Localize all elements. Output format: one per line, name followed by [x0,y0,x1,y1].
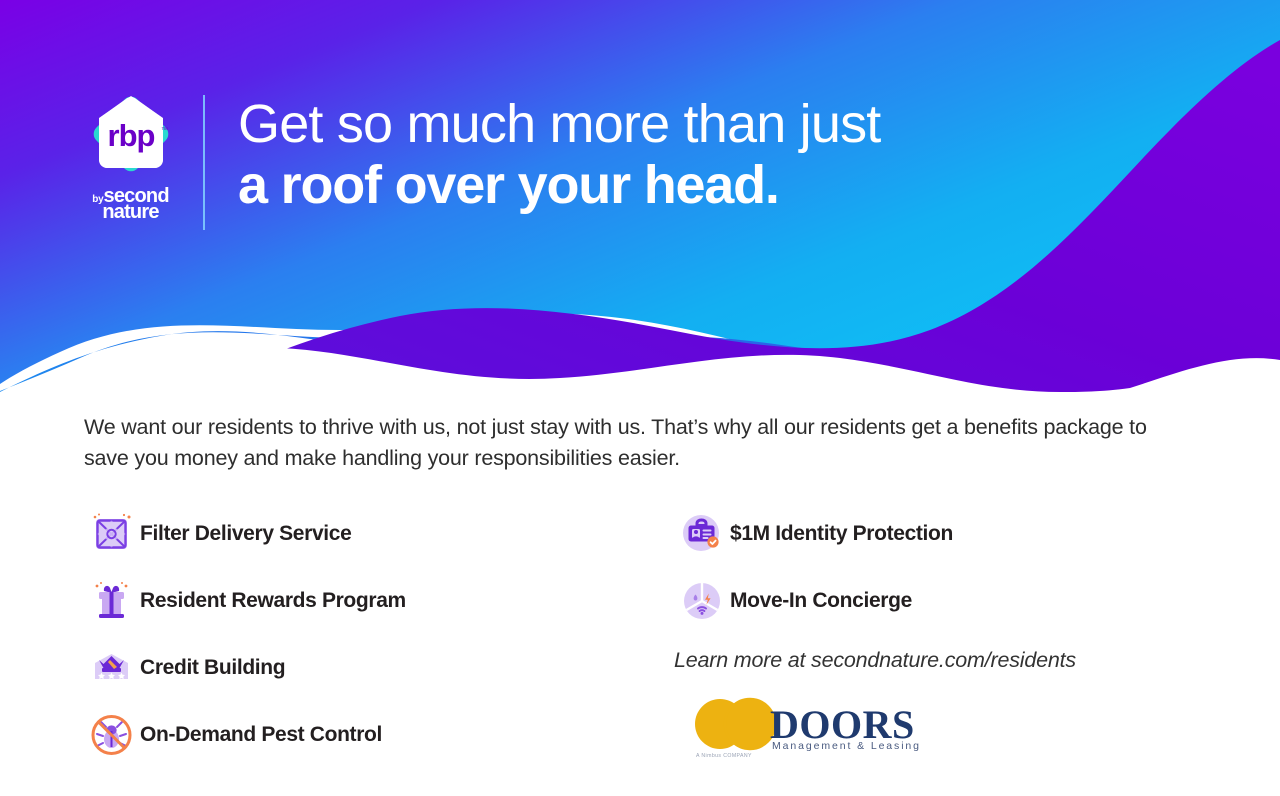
svg-text:™: ™ [161,127,168,134]
benefit-label: Filter Delivery Service [140,522,351,546]
gift-icon [84,577,140,625]
benefit-on-demand-pest-control: On-Demand Pest Control [84,701,604,768]
intro-paragraph: We want our residents to thrive with us,… [84,412,1179,475]
rbp-logo-byline: bysecond nature [92,186,169,222]
learn-more-text: Learn more at secondnature.com/residents [674,648,1076,673]
hero-banner: rbp ™ bysecond nature Get so much more t… [0,0,1280,392]
doors-logo-subtext: A Nimbus COMPANY [696,753,752,759]
svg-text:rbp: rbp [107,118,154,153]
benefits-column-right: $1M Identity Protection [674,500,1194,634]
hero-divider [203,95,205,230]
id-badge-shield-icon [674,510,730,558]
doors-logo-tagline: Management & Leasing [772,740,921,752]
benefits-column-left: Filter Delivery Service Resident Rewa [84,500,604,768]
benefit-move-in-concierge: Move-In Concierge [674,567,1194,634]
benefit-resident-rewards-program: Resident Rewards Program [84,567,604,634]
benefit-credit-building: Credit Building [84,634,604,701]
doors-partner-logo: DOORS Management & Leasing A Nimbus COMP… [684,697,984,759]
hero-headline: Get so much more than just a roof over y… [238,95,998,216]
rbp-logo: rbp ™ bysecond nature [78,88,183,233]
benefit-label: $1M Identity Protection [730,522,953,546]
utilities-circle-icon [674,577,730,625]
byline-nature: nature [92,202,169,222]
bottom-strip [0,790,1280,796]
no-pest-icon [84,711,140,759]
crown-badge-icon [84,644,140,692]
benefit-label: On-Demand Pest Control [140,723,382,747]
benefit-filter-delivery-service: Filter Delivery Service [84,500,604,567]
air-filter-icon [84,510,140,558]
headline-line-2: a roof over your head. [238,155,998,215]
benefit-label: Move-In Concierge [730,589,912,613]
headline-line-1: Get so much more than just [238,95,998,153]
benefit-label: Resident Rewards Program [140,589,406,613]
benefit-label: Credit Building [140,656,285,680]
rbp-house-diamond-logo: rbp ™ [85,88,177,180]
benefit-identity-protection: $1M Identity Protection [674,500,1194,567]
